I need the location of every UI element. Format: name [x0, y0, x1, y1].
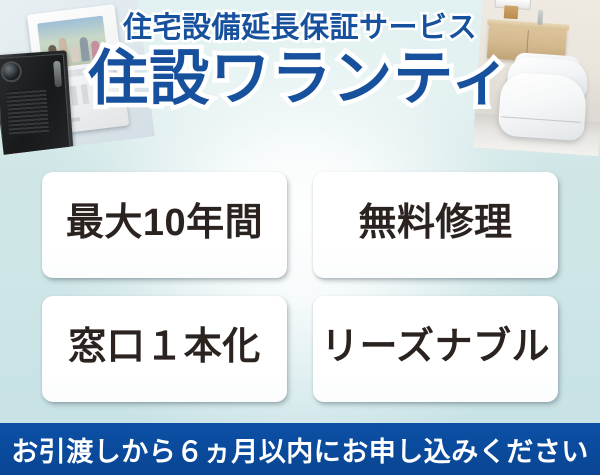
feature-card-grid: 最大10年間 無料修理 窓口１本化 リーズナブル: [42, 172, 558, 402]
feature-card-reasonable[interactable]: リーズナブル: [313, 296, 558, 402]
feature-card-free-repair[interactable]: 無料修理: [313, 172, 558, 278]
feature-card-max-years[interactable]: 最大10年間: [42, 172, 287, 278]
feature-card-label: 最大10年間: [66, 191, 263, 246]
application-deadline-bar: お引渡しから６ヵ月以内にお申し込みください: [0, 423, 600, 475]
service-subtitle: 住宅設備延長保証サービス: [0, 14, 600, 43]
feature-card-single-contact[interactable]: 窓口１本化: [42, 296, 287, 402]
feature-card-label: 無料修理: [358, 191, 512, 246]
feature-card-label: 窓口１本化: [68, 315, 261, 370]
headline-block: 住宅設備延長保証サービス 住設ワランティ: [0, 14, 600, 109]
promo-banner: 住宅設備延長保証サービス 住設ワランティ 最大10年間 無料修理 窓口１本化 リ…: [0, 0, 600, 475]
page-title: 住設ワランティ: [0, 49, 600, 109]
feature-card-label: リーズナブル: [321, 315, 550, 370]
application-deadline-text: お引渡しから６ヵ月以内にお申し込みください: [11, 430, 589, 469]
